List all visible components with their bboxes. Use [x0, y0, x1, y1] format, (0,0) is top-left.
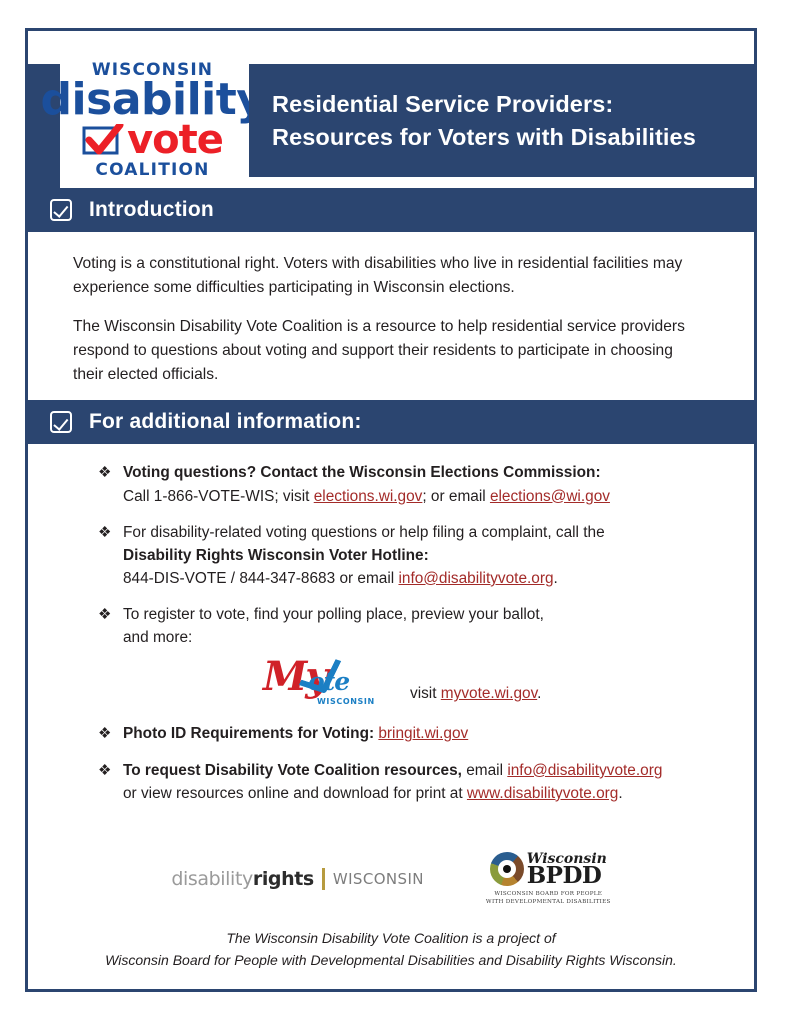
drw-logo-wisconsin-text: WISCONSIN [333, 870, 424, 888]
drw-logo-rights-text: rights [253, 868, 314, 890]
logo-checkbox-icon [82, 124, 126, 155]
list-item-content: Voting questions? Contact the Wisconsin … [123, 461, 610, 507]
bullet-diamond-icon: ❖ [98, 461, 123, 507]
bpdd-subtitle-line-1: WISCONSIN BOARD FOR PEOPLE [494, 891, 602, 897]
footer-caption-line-1: The Wisconsin Disability Vote Coalition … [226, 930, 555, 946]
page-title-line-2: Resources for Voters with Disabilities [272, 121, 754, 153]
additional-info-list: ❖ Voting questions? Contact the Wisconsi… [28, 444, 754, 823]
section-header-introduction: Introduction [28, 188, 754, 232]
logo-disability-text: disability [41, 80, 265, 120]
elections-line-1: Voting questions? Contact the Wisconsin … [123, 464, 601, 481]
drw-logo-divider [322, 868, 325, 890]
bpdd-logo-abbrev-text: BPDD [527, 864, 607, 887]
document-page: WISCONSIN disability vote COALITION Resi… [25, 28, 757, 992]
myvote-visit-pre: visit [410, 685, 441, 702]
elections-line-2-pre: Call 1-866-VOTE-WIS; visit [123, 488, 314, 505]
myvote-line-1: To register to vote, find your polling p… [123, 606, 544, 623]
footer-caption: The Wisconsin Disability Vote Coalition … [28, 928, 754, 971]
myvote-logo-vote-text: ote [308, 669, 349, 694]
document-header: WISCONSIN disability vote COALITION Resi… [28, 31, 754, 188]
hotline-line-3-pre: 844-DIS-VOTE / 844-347-8683 or email [123, 570, 398, 587]
bullet-diamond-icon: ❖ [98, 603, 123, 709]
myvote-line-2: and more: [123, 629, 192, 646]
logo-coalition-text: COALITION [95, 162, 209, 179]
intro-paragraph-2: The Wisconsin Disability Vote Coalition … [73, 315, 702, 386]
link-myvote-wi-gov[interactable]: myvote.wi.gov [441, 685, 537, 702]
myvote-visit-post: . [537, 685, 541, 702]
list-item-photo-id: ❖ Photo ID Requirements for Voting: brin… [98, 722, 734, 746]
hotline-line-3-post: . [554, 570, 558, 587]
document-title-band: Residential Service Providers: Resources… [249, 64, 754, 177]
footer-logos: disabilityrights WISCONSIN Wisconsin BPD… [28, 852, 754, 906]
list-item-content: To register to vote, find your polling p… [123, 603, 544, 709]
logo-vote-row: vote [82, 120, 223, 160]
drw-logo-disability-text: disability [171, 868, 252, 890]
link-www-disabilityvote-org[interactable]: www.disabilityvote.org [467, 785, 618, 802]
hotline-line-1: For disability-related voting questions … [123, 524, 605, 541]
photo-id-label: Photo ID Requirements for Voting: [123, 725, 378, 742]
logo-vote-text: vote [127, 120, 223, 160]
section-header-additional-information: For additional information: [28, 400, 754, 444]
resources-line-2-pre: or view resources online and download fo… [123, 785, 467, 802]
bullet-diamond-icon: ❖ [98, 521, 123, 590]
list-item-elections-commission: ❖ Voting questions? Contact the Wisconsi… [98, 461, 734, 507]
bpdd-subtitle-line-2: WITH DEVELOPMENTAL DISABILITIES [486, 899, 611, 905]
bpdd-logo-words: Wisconsin BPDD [527, 852, 607, 887]
link-elections-email[interactable]: elections@wi.gov [490, 488, 610, 505]
myvote-visit-text: visit myvote.wi.gov. [410, 682, 541, 709]
elections-line-2-mid: ; or email [422, 488, 490, 505]
link-elections-wi-gov[interactable]: elections.wi.gov [314, 488, 423, 505]
section-title-introduction: Introduction [89, 198, 214, 222]
list-item-voter-hotline: ❖ For disability-related voting question… [98, 521, 734, 590]
list-item-request-resources: ❖ To request Disability Vote Coalition r… [98, 759, 734, 805]
list-item-myvote: ❖ To register to vote, find your polling… [98, 603, 734, 709]
list-item-content: For disability-related voting questions … [123, 521, 605, 590]
section-title-additional-information: For additional information: [89, 410, 362, 434]
footer-caption-line-2: Wisconsin Board for People with Developm… [105, 952, 677, 968]
myvote-logo-wisconsin-text: WISCONSIN [317, 696, 375, 708]
link-info-disabilityvote-email[interactable]: info@disabilityvote.org [398, 570, 553, 587]
resources-line-1-mid: email [462, 762, 507, 779]
resources-line-1-bold: To request Disability Vote Coalition res… [123, 762, 462, 779]
intro-paragraph-1: Voting is a constitutional right. Voters… [73, 252, 702, 299]
checkbox-check-icon [50, 411, 72, 433]
resources-line-2-post: . [618, 785, 622, 802]
checkbox-check-icon [50, 199, 72, 221]
wisconsin-bpdd-logo: Wisconsin BPDD WISCONSIN BOARD FOR PEOPL… [486, 852, 611, 906]
introduction-body: Voting is a constitutional right. Voters… [28, 232, 754, 400]
myvote-wisconsin-logo: My ote WISCONSIN [263, 653, 368, 709]
page-title-line-1: Residential Service Providers: [272, 88, 754, 120]
list-item-content: To request Disability Vote Coalition res… [123, 759, 662, 805]
link-info-disabilityvote-email-2[interactable]: info@disabilityvote.org [507, 762, 662, 779]
hotline-line-2: Disability Rights Wisconsin Voter Hotlin… [123, 547, 429, 564]
myvote-logo-row: My ote WISCONSIN visit myvote.wi.gov. [263, 653, 544, 709]
disability-vote-coalition-logo: WISCONSIN disability vote COALITION [60, 53, 245, 188]
bullet-diamond-icon: ❖ [98, 722, 123, 746]
bpdd-logo-top: Wisconsin BPDD [490, 852, 607, 887]
list-item-content: Photo ID Requirements for Voting: bringi… [123, 722, 468, 746]
bpdd-logo-subtitle: WISCONSIN BOARD FOR PEOPLE WITH DEVELOPM… [486, 890, 611, 906]
bpdd-swirl-icon [490, 852, 524, 886]
bullet-diamond-icon: ❖ [98, 759, 123, 805]
link-bringit-wi-gov[interactable]: bringit.wi.gov [378, 725, 468, 742]
disability-rights-wisconsin-logo: disabilityrights WISCONSIN [171, 868, 424, 890]
